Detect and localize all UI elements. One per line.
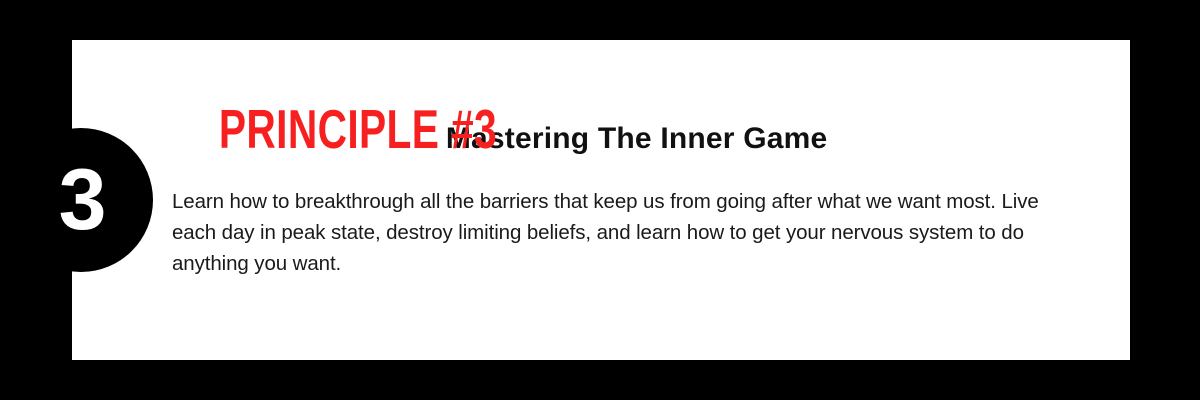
principle-eyebrow-label: PRINCIPLE #3	[219, 102, 497, 157]
badge-number-label: 3	[9, 128, 153, 272]
number-badge-circle: 3	[9, 128, 153, 272]
heading-row: PRINCIPLE #3 Mastering The Inner Game	[170, 102, 827, 157]
page-title: Mastering The Inner Game	[446, 124, 828, 154]
content-card: PRINCIPLE #3 Mastering The Inner Game Le…	[72, 40, 1130, 360]
slide-canvas: PRINCIPLE #3 Mastering The Inner Game Le…	[0, 0, 1200, 400]
body-paragraph: Learn how to breakthrough all the barrie…	[172, 186, 1072, 279]
